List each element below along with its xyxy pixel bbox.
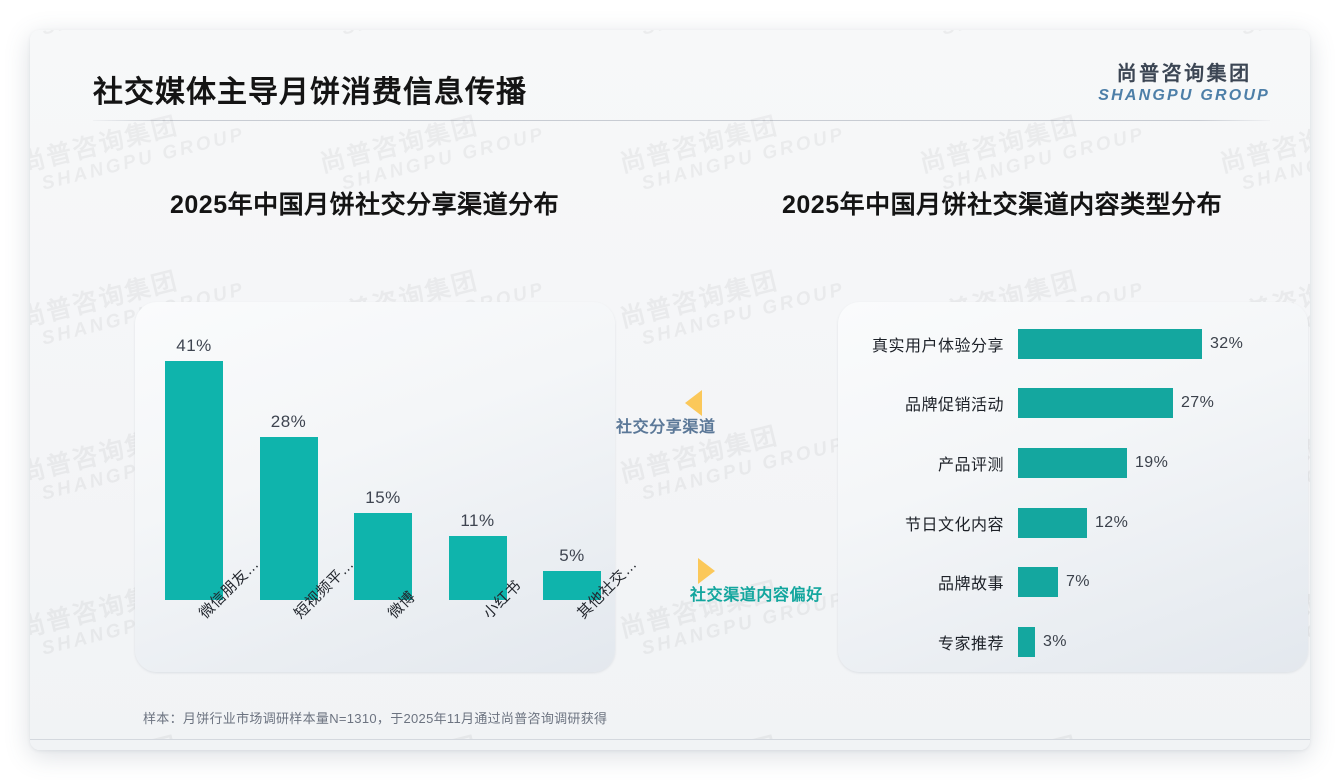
bar-rect [165,361,223,600]
bar-value-label: 27% [1181,394,1214,412]
bar-value-label: 3% [1043,633,1067,651]
watermark-tile: 尚普咨询集团SHANGPU GROUP [618,253,847,352]
annotation-label: 社交渠道内容偏好 [690,588,823,604]
vertical-bar-chart: 41%28%15%11%5% 微信朋友…短视频平…微博小红书其他社交… [135,302,615,672]
bar-column: 28% [260,302,318,600]
category-label: 专家推荐 [838,630,1018,654]
vertical-bar-category-axis: 微信朋友…短视频平…微博小红书其他社交… [165,600,601,672]
header-divider [93,120,1270,121]
slide-footer: ©2026.1 SHANGPU GROUP www.shangpu-china.… [30,740,1310,750]
bar-rect [1018,567,1058,597]
bar-value-label: 15% [365,489,401,506]
watermark-english-text: SHANGPU GROUP [640,125,847,194]
bar-track: 19% [1018,448,1308,478]
bar-track: 7% [1018,567,1308,597]
bar-row: 产品评测19% [838,444,1308,482]
slide-canvas: 尚普咨询集团SHANGPU GROUP尚普咨询集团SHANGPU GROUP尚普… [30,30,1310,750]
watermark-chinese-text: 尚普咨询集团 [618,253,842,332]
logo-english-text: SHANGPU GROUP [1098,87,1270,105]
bar-rect [1018,448,1127,478]
bar-rect [1018,508,1087,538]
triangle-right-icon [698,558,715,584]
page-title: 社交媒体主导月饼消费信息传播 [93,78,527,108]
bar-track: 3% [1018,627,1308,657]
bar-column: 5% [543,302,601,600]
slide-header: 社交媒体主导月饼消费信息传播 尚普咨询集团 SHANGPU GROUP [30,30,1310,120]
bar-value-label: 7% [1066,573,1090,591]
watermark-english-text: SHANGPU GROUP [640,280,847,349]
bar-rect [260,437,318,600]
bar-track: 12% [1018,508,1308,538]
category-label: 产品评测 [838,451,1018,475]
bar-value-label: 12% [1095,514,1128,532]
bar-column: 41% [165,302,223,600]
bar-row: 真实用户体验分享32% [838,325,1308,363]
bar-value-label: 5% [559,547,585,564]
watermark-english-text: SHANGPU GROUP [340,125,547,194]
bar-value-label: 11% [460,512,494,529]
bar-row: 节日文化内容12% [838,504,1308,542]
bar-track: 27% [1018,388,1308,418]
vertical-bar-plot-area: 41%28%15%11%5% [165,302,601,600]
watermark-english-text: SHANGPU GROUP [940,125,1147,194]
category-label: 品牌促销活动 [838,391,1018,415]
bar-value-label: 41% [176,337,212,354]
bar-rect [1018,627,1035,657]
watermark-english-text: SHANGPU GROUP [40,125,247,194]
bar-track: 32% [1018,329,1308,359]
triangle-left-icon [685,390,702,416]
right-chart-title: 2025年中国月饼社交渠道内容类型分布 [782,193,1222,218]
annotation-social-share-channel: 社交分享渠道 [616,390,716,436]
brand-logo: 尚普咨询集团 SHANGPU GROUP [1098,63,1270,105]
category-label: 节日文化内容 [838,511,1018,535]
bar-rect [1018,329,1202,359]
bar-column: 11% [449,302,507,600]
bar-value-label: 19% [1135,454,1168,472]
left-chart-title: 2025年中国月饼社交分享渠道分布 [170,193,559,218]
annotation-label: 社交分享渠道 [616,420,716,436]
bar-column: 15% [354,302,412,600]
sample-footnote: 样本：月饼行业市场调研样本量N=1310，于2025年11月通过尚普咨询调研获得 [143,712,607,725]
bar-value-label: 28% [271,413,307,430]
annotation-content-preference: 社交渠道内容偏好 [690,558,823,604]
logo-chinese-text: 尚普咨询集团 [1098,63,1270,86]
horizontal-bar-chart: 真实用户体验分享32%品牌促销活动27%产品评测19%节日文化内容12%品牌故事… [838,302,1308,672]
bar-row: 品牌促销活动27% [838,384,1308,422]
watermark-english-text: SHANGPU GROUP [640,435,847,504]
watermark-english-text: SHANGPU GROUP [1240,125,1310,194]
category-label: 品牌故事 [838,570,1018,594]
category-label: 真实用户体验分享 [838,332,1018,356]
bar-rect [1018,388,1173,418]
bar-row: 专家推荐3% [838,623,1308,661]
bar-value-label: 32% [1210,335,1243,353]
bar-row: 品牌故事7% [838,563,1308,601]
